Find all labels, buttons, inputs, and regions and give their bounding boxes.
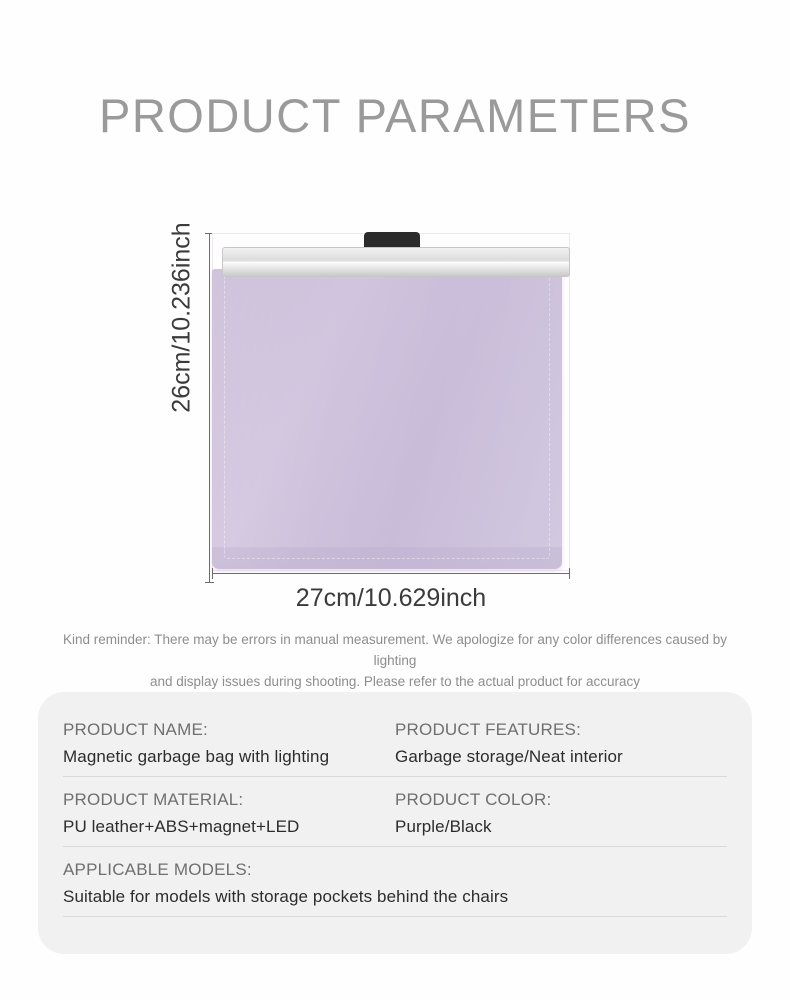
spec-value: PU leather+ABS+magnet+LED bbox=[63, 817, 385, 837]
kind-reminder-line-2: and display issues during shooting. Plea… bbox=[55, 672, 735, 693]
page-title: PRODUCT PARAMETERS bbox=[0, 88, 790, 143]
product-bag-illustration bbox=[212, 229, 570, 571]
spec-value: Garbage storage/Neat interior bbox=[395, 747, 717, 767]
width-dimension-line bbox=[212, 573, 570, 574]
spec-row: APPLICABLE MODELS: Suitable for models w… bbox=[63, 860, 727, 917]
specifications-list: PRODUCT NAME: Magnetic garbage bag with … bbox=[63, 720, 727, 917]
product-image-area: 26cm/10.236inch 27cm/10.629inch bbox=[160, 215, 630, 615]
height-dimension-line bbox=[209, 233, 210, 583]
bag-sheen bbox=[212, 269, 562, 569]
spec-row: PRODUCT NAME: Magnetic garbage bag with … bbox=[63, 720, 727, 777]
kind-reminder-line-1: Kind reminder: There may be errors in ma… bbox=[55, 630, 735, 672]
spec-label: PRODUCT COLOR: bbox=[395, 790, 717, 810]
bag-bottom-fold bbox=[212, 547, 562, 569]
spec-label: PRODUCT NAME: bbox=[63, 720, 385, 740]
bag-top-bar bbox=[222, 247, 570, 277]
kind-reminder-text: Kind reminder: There may be errors in ma… bbox=[55, 630, 735, 693]
spec-item-applicable-models: APPLICABLE MODELS: Suitable for models w… bbox=[63, 860, 727, 907]
spec-item-product-features: PRODUCT FEATURES: Garbage storage/Neat i… bbox=[395, 720, 727, 767]
spec-row: PRODUCT MATERIAL: PU leather+ABS+magnet+… bbox=[63, 790, 727, 847]
height-dimension-label: 26cm/10.236inch bbox=[168, 213, 197, 423]
spec-item-product-color: PRODUCT COLOR: Purple/Black bbox=[395, 790, 727, 837]
spec-label: APPLICABLE MODELS: bbox=[63, 860, 717, 880]
spec-item-product-material: PRODUCT MATERIAL: PU leather+ABS+magnet+… bbox=[63, 790, 395, 837]
spec-label: PRODUCT FEATURES: bbox=[395, 720, 717, 740]
spec-value: Suitable for models with storage pockets… bbox=[63, 887, 717, 907]
specifications-card: PRODUCT NAME: Magnetic garbage bag with … bbox=[38, 692, 752, 954]
spec-value: Purple/Black bbox=[395, 817, 717, 837]
spec-item-product-name: PRODUCT NAME: Magnetic garbage bag with … bbox=[63, 720, 395, 767]
spec-label: PRODUCT MATERIAL: bbox=[63, 790, 385, 810]
spec-value: Magnetic garbage bag with lighting bbox=[63, 747, 385, 767]
width-dimension-label: 27cm/10.629inch bbox=[212, 584, 570, 613]
bag-body bbox=[212, 269, 562, 569]
product-parameters-page: PRODUCT PARAMETERS 26cm/10.236inch 27cm/… bbox=[0, 0, 790, 1000]
